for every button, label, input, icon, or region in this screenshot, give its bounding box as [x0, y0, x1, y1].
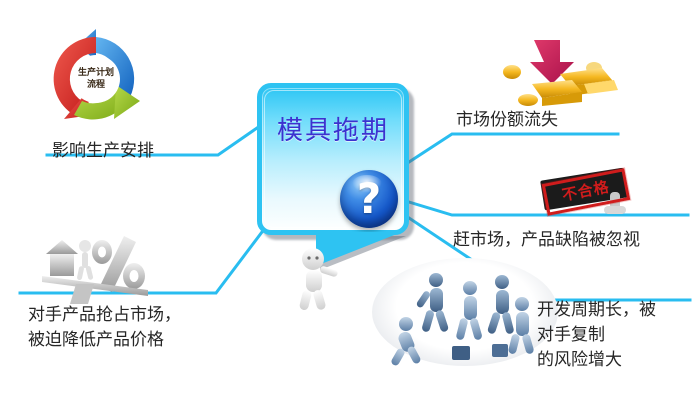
copy-risk-line2: 对手复制 — [537, 325, 605, 345]
copy-risk-line3: 的风险增大 — [537, 350, 622, 370]
cycle-arrows-icon: 生产计划 流程 — [44, 27, 148, 131]
label-production-schedule: 影响生产安排 — [52, 139, 154, 164]
label-market-share-loss: 市场份额流失 — [456, 108, 558, 133]
cycle-label-line2: 流程 — [67, 79, 125, 91]
gold-bars-down-arrow-icon — [498, 28, 620, 110]
cycle-icon-center-label: 生产计划 流程 — [67, 67, 125, 91]
diagram-canvas: 模具拖期 ? — [0, 0, 700, 400]
cycle-label-line1: 生产计划 — [67, 67, 125, 79]
white-figure-pointing-icon — [296, 246, 348, 312]
label-copy-risk: 开发周期长，被 对手复制 的风险增大 — [537, 298, 656, 373]
label-price-pressure: 对手产品抢占市场， 被迫降低产品价格 — [28, 303, 181, 353]
page-title: 模具拖期 — [262, 110, 404, 147]
connector-market-share — [409, 134, 618, 162]
rejected-stamp-icon: 不合格 — [538, 168, 642, 220]
question-mark-sphere-icon: ? — [340, 170, 398, 228]
price-pressure-line1: 对手产品抢占市场， — [28, 305, 181, 325]
center-bubble[interactable]: 模具拖期 ? — [257, 83, 409, 235]
copy-risk-line1: 开发周期长，被 — [537, 300, 656, 320]
price-pressure-line2: 被迫降低产品价格 — [28, 330, 164, 350]
seesaw-percent-icon — [40, 228, 158, 306]
running-crowd-icon — [372, 258, 558, 366]
label-defects-ignored: 赶市场，产品缺陷被忽视 — [453, 228, 640, 253]
sphere-gloss — [352, 175, 382, 193]
